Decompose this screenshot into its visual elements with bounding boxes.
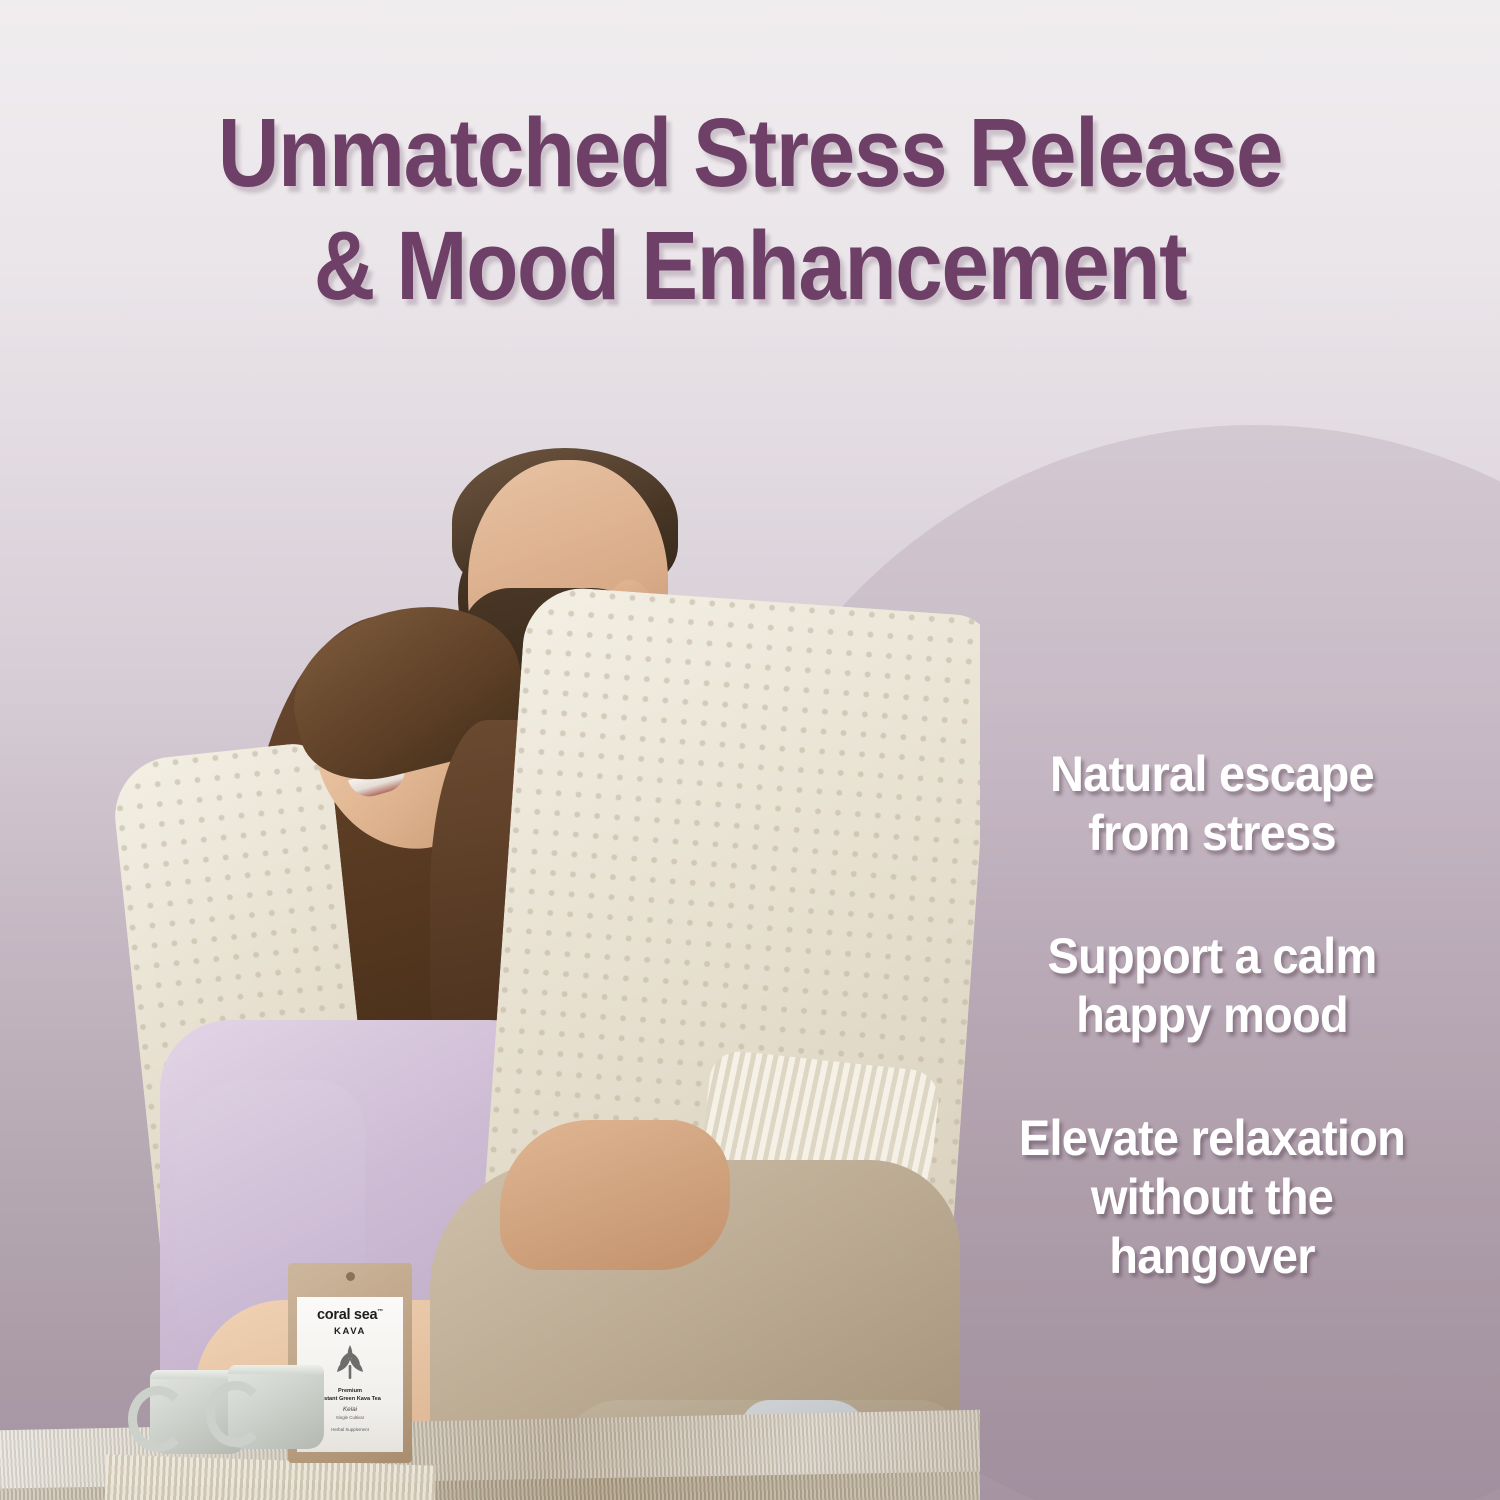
- product-brand-text: coral sea: [317, 1307, 377, 1323]
- product-category: KAVA: [297, 1326, 403, 1337]
- ceramic-mug-right: [228, 1365, 324, 1449]
- benefit-item-relaxation: Elevate relaxation without the hangover: [977, 1109, 1447, 1286]
- benefit-1-line-1: Natural escape: [977, 745, 1447, 804]
- benefit-2-line-1: Support a calm: [977, 927, 1447, 986]
- headline-line-2: & Mood Enhancement: [90, 209, 1410, 322]
- lifestyle-photo-couple: coral sea™ KAVA Premium: [0, 420, 980, 1500]
- benefit-3-line-1: Elevate relaxation: [977, 1109, 1447, 1168]
- trademark-icon: ™: [377, 1309, 383, 1315]
- benefit-1-line-2: from stress: [977, 804, 1447, 863]
- pouch-hang-hole: [346, 1272, 355, 1281]
- mug-rim-right: [228, 1365, 324, 1374]
- benefit-item-natural-escape: Natural escape from stress: [977, 745, 1447, 863]
- product-brand-name: coral sea™: [297, 1308, 403, 1323]
- benefit-list: Natural escape from stress Support a cal…: [962, 745, 1462, 1286]
- page-title: Unmatched Stress Release & Mood Enhancem…: [90, 96, 1410, 323]
- benefit-2-line-2: happy mood: [977, 986, 1447, 1045]
- benefit-item-calm-mood: Support a calm happy mood: [977, 927, 1447, 1045]
- product-marketing-image: coral sea™ KAVA Premium: [0, 0, 1500, 1500]
- headline-line-1: Unmatched Stress Release: [90, 96, 1410, 209]
- benefit-3-line-3: hangover: [977, 1227, 1447, 1286]
- man-arm: [500, 1120, 730, 1270]
- mug-handle-left: [128, 1386, 188, 1452]
- mug-handle-right: [206, 1381, 266, 1447]
- benefit-3-line-2: without the: [977, 1168, 1447, 1227]
